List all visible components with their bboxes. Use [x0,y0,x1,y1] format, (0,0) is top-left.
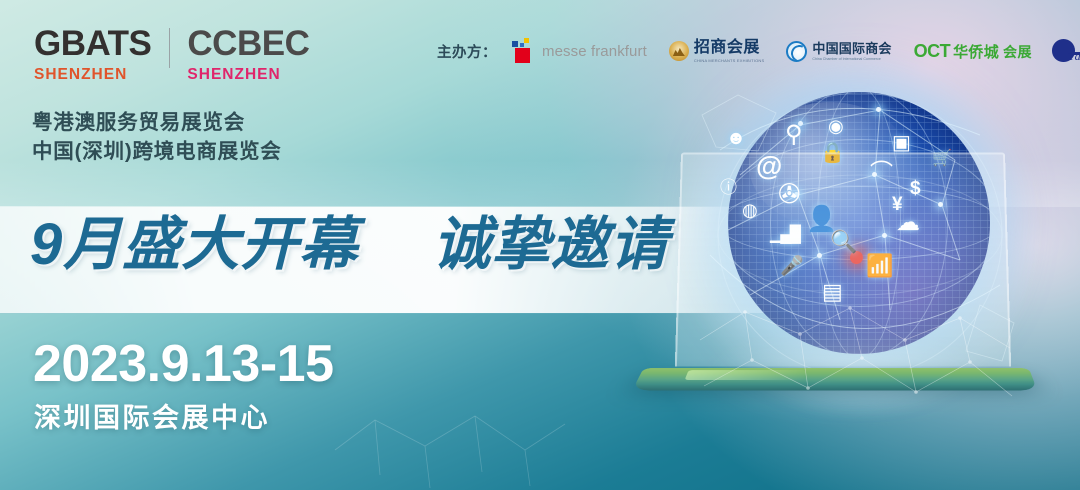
globe-halo [680,55,1040,415]
oct-name-cn: 华侨城 [953,41,999,62]
brand-gbats: GBATS SHENZHEN [34,26,151,84]
ccoic-emblem-icon [786,41,807,62]
laptop-screen [675,153,1011,367]
ccbec-city: SHENZHEN [187,66,309,84]
talent-text: Talent [1068,49,1080,64]
ccoic-name-cn: 中国国际商会 [812,42,891,55]
info-icon: ⓘ [720,179,737,196]
headline-part-2: 诚挚邀请 [433,212,669,277]
gbats-city: SHENZHEN [34,66,151,84]
ccoic-name-en: China Chamber of International Commerce [812,57,891,61]
web-icon: ◍ [742,201,758,219]
brand-ccbec: CCBEC SHENZHEN [187,26,309,84]
band-hairline-bottom [0,313,1080,314]
corner-mesh-decoration [330,380,570,490]
event-date: 2023.9.13-15 [33,338,334,390]
lock-icon: 🔒 [820,143,845,163]
microphone-icon: 🎤 [780,257,804,276]
laptop-glow [700,330,1000,420]
network-lines-svg [680,55,1040,415]
network-node [876,107,881,112]
band-hairline-top [0,206,1080,207]
bar-chart-icon: ▁▄█ [770,227,799,243]
digital-globe [728,92,990,354]
network-overlay: ◉ ⚲ 🔒 ▣ @ ⌒ ✇ 🛒 👤 $ ¥ ▁▄█ ☁ 🔍 🎤 📶 ▤ ☻ ⓘ … [680,55,1040,415]
talent-mark-icon: Talent [1052,38,1080,64]
logo-messe-frankfurt: messe frankfurt [511,38,647,64]
logo-talent: Talent [1052,38,1080,64]
network-node [882,233,887,238]
tech-artwork: ◉ ⚲ 🔒 ▣ @ ⌒ ✇ 🛒 👤 $ ¥ ▁▄█ ☁ 🔍 🎤 📶 ▤ ☻ ⓘ … [660,0,1080,490]
globe-highlight [749,102,911,228]
eye-icon: ◉ [828,117,844,135]
logo-oct: OCT 华侨城 会展 [914,41,1032,62]
organizer-label: 主办方： [437,41,497,62]
globe-longitude-line [817,92,901,354]
cme-emblem-icon [669,41,689,61]
cme-name-cn: 招商会展 [694,40,765,56]
globe-grid [728,92,990,354]
messe-frankfurt-mark-icon [511,38,535,64]
network-node [798,121,803,126]
event-venue: 深圳国际会展中心 [34,405,270,432]
band-soft-top [0,160,1080,207]
search-icon: 🔍 [830,231,857,253]
event-banner: ◉ ⚲ 🔒 ▣ @ ⌒ ✇ 🛒 👤 $ ¥ ▁▄█ ☁ 🔍 🎤 📶 ▤ ☻ ⓘ … [0,0,1080,490]
mesh-decoration [690,300,1020,430]
laptop-base [632,368,1037,390]
messe-frankfurt-text: messe frankfurt [542,43,647,60]
oct-name-en: OCT [914,41,951,62]
network-node [817,253,822,258]
logo-ccoic: 中国国际商会 China Chamber of International Co… [786,41,891,62]
headline-part-1: 9月盛大开幕 [30,212,358,277]
main-headline: 9月盛大开幕 诚挚邀请 [30,216,669,274]
headphones-icon: ⌒ [870,161,893,184]
at-sign-icon: @ [756,153,782,180]
network-node [872,172,877,177]
globe-latitude-line [728,139,990,307]
chat-bubble-icon: ▤ [822,281,843,303]
globe-network-icon: ✇ [778,181,801,208]
user-avatar-icon: 👤 [806,207,837,232]
organizer-row: 主办方： messe frankfurt 招商会展 CHINA MERCHANT… [437,38,1080,64]
oct-name-cn2: 会展 [1003,42,1032,62]
exhibition-subtitles: 粤港澳服务贸易展览会 中国(深圳)跨境电商展览会 [32,108,282,166]
network-node-active [850,251,863,264]
gbats-name: GBATS [34,26,151,61]
network-node [794,192,799,197]
globe-latitude-line [728,186,990,259]
cloud-icon: ☁ [896,211,920,235]
yen-icon: ¥ [892,195,903,214]
brand-divider [169,28,170,68]
user-group-icon: ☻ [726,129,746,148]
location-pin-icon: ⚲ [785,123,803,147]
subtitle-line-1: 粤港澳服务贸易展览会 [32,108,282,137]
logo-cme: 招商会展 CHINA MERCHANTS EXHIBITIONS [669,40,765,63]
camera-icon: ▣ [892,133,911,153]
wifi-icon: 📶 [866,255,893,277]
subtitle-line-2: 中国(深圳)跨境电商展览会 [32,137,282,166]
cme-name-en: CHINA MERCHANTS EXHIBITIONS [694,58,765,63]
dollar-icon: $ [910,179,921,198]
shopping-cart-icon: 🛒 [932,151,952,167]
globe-longitude-line [770,92,948,354]
network-node [938,202,943,207]
ccbec-name: CCBEC [187,26,309,61]
brand-lockup: GBATS SHENZHEN CCBEC SHENZHEN [34,26,309,84]
